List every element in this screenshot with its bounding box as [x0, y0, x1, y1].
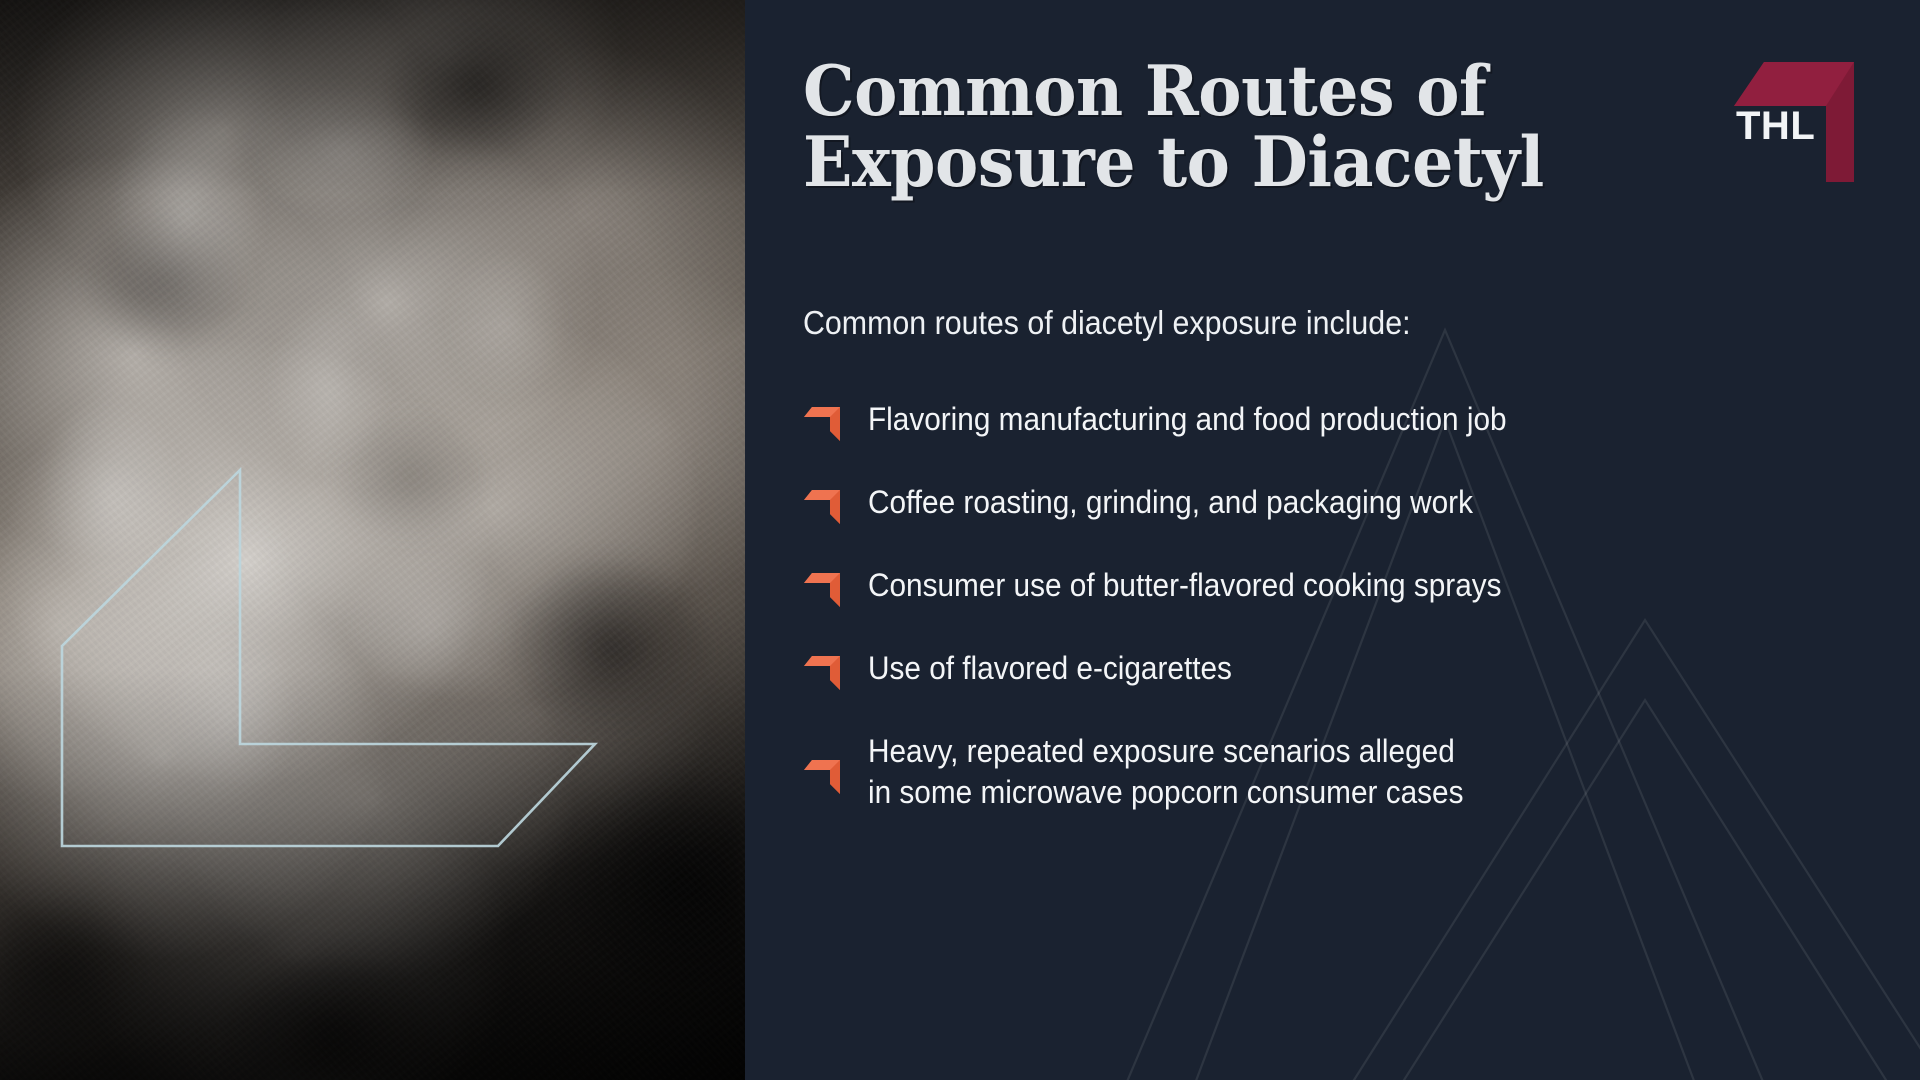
logo-wordmark: THL	[1736, 104, 1815, 149]
list-item-label: Consumer use of butter-flavored cooking …	[868, 565, 1502, 605]
orange-chevron-bullet-icon	[803, 757, 843, 797]
orange-chevron-bullet-icon	[803, 570, 843, 610]
outlined-arrow-graphic-icon	[0, 0, 745, 1080]
intro-text: Common routes of diacetyl exposure inclu…	[803, 302, 1779, 343]
list-item-label: Coffee roasting, grinding, and packaging…	[868, 482, 1473, 522]
list-item-label: Use of flavored e-cigarettes	[868, 648, 1232, 688]
orange-chevron-bullet-icon	[803, 487, 843, 527]
orange-chevron-bullet-icon	[803, 404, 843, 444]
title-block: Common Routes of Exposure to Diacetyl	[803, 48, 1591, 198]
list-item-label: Heavy, repeated exposure scenarios alleg…	[868, 731, 1463, 812]
list-item: Use of flavored e-cigarettes	[803, 648, 1864, 693]
content-panel: Common Routes of Exposure to Diacetyl TH…	[745, 0, 1920, 1080]
page-title: Common Routes of Exposure to Diacetyl	[803, 56, 1544, 198]
thl-logo: THL	[1730, 54, 1858, 190]
orange-chevron-bullet-icon	[803, 653, 843, 693]
list-item: Coffee roasting, grinding, and packaging…	[803, 482, 1864, 527]
header-row: Common Routes of Exposure to Diacetyl TH…	[803, 48, 1864, 198]
list-item: Consumer use of butter-flavored cooking …	[803, 565, 1864, 610]
photo-panel	[0, 0, 745, 1080]
exposure-routes-list: Flavoring manufacturing and food product…	[803, 399, 1864, 812]
panel-content: Common Routes of Exposure to Diacetyl TH…	[745, 0, 1920, 1080]
list-item: Heavy, repeated exposure scenarios alleg…	[803, 731, 1864, 812]
slide-root: Common Routes of Exposure to Diacetyl TH…	[0, 0, 1920, 1080]
list-item-label: Flavoring manufacturing and food product…	[868, 399, 1507, 439]
list-item: Flavoring manufacturing and food product…	[803, 399, 1864, 444]
